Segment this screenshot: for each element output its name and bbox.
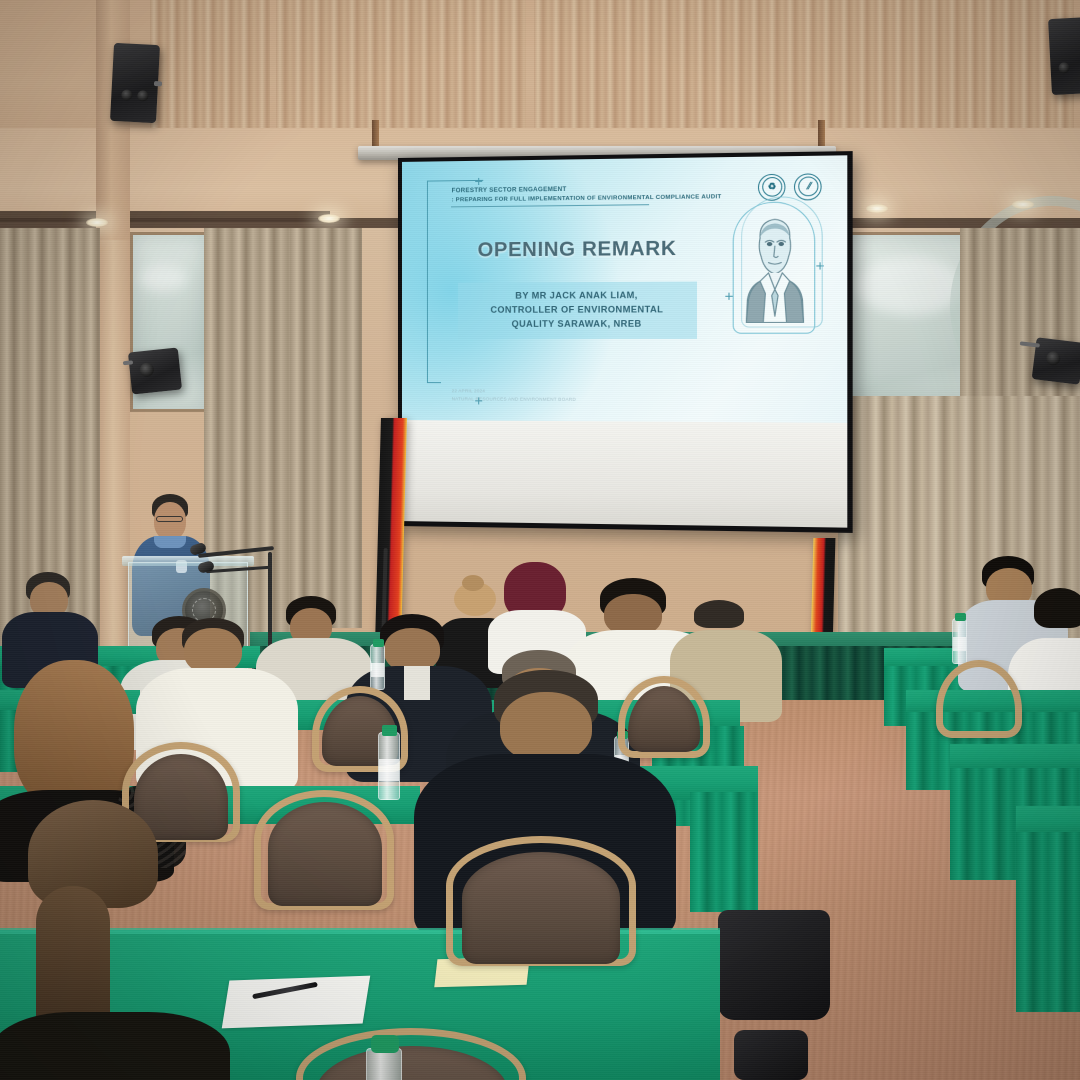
presenter-glasses-icon <box>156 516 183 522</box>
water-bottle <box>378 732 400 800</box>
chair-back-cushion <box>268 802 382 906</box>
attendee-shirt-collar <box>404 666 430 700</box>
wall-speaker-left-lower <box>128 348 182 395</box>
slide-subtitle-box: BY MR JACK ANAK LIAM, CONTROLLER OF ENVI… <box>458 282 697 339</box>
speaker-portrait-illustration <box>733 201 816 333</box>
sarawak-logo-glyph: ⫽ <box>798 177 818 197</box>
ceiling-downlight <box>1012 200 1034 209</box>
projection-screen: FORESTRY SECTOR ENGAGEMENT : PREPARING F… <box>398 151 853 533</box>
table-skirt <box>1016 832 1080 1012</box>
slide-footnote-line2: NATURAL RESOURCES AND ENVIRONMENT BOARD <box>452 395 695 404</box>
attendee-hair <box>1034 588 1080 628</box>
slide-subtitle-line2: CONTROLLER OF ENVIRONMENTAL <box>464 303 690 317</box>
ceiling-downlight <box>866 204 888 213</box>
table-skirt <box>690 792 758 912</box>
slide-corner-bracket <box>427 180 483 383</box>
hair-bun-knot <box>462 575 484 591</box>
wall-speaker-left <box>110 43 160 123</box>
soffit-trim <box>0 211 330 222</box>
attendee-foreground-ponytail <box>0 800 250 1080</box>
window-curtain <box>290 228 362 628</box>
wall-pillar <box>96 240 130 660</box>
attendee-torso <box>0 1012 230 1080</box>
water-bottle-foreground <box>366 1048 402 1080</box>
fluted-wall-panel <box>534 0 1074 130</box>
presentation-slide: FORESTRY SECTOR ENGAGEMENT : PREPARING F… <box>402 155 847 423</box>
portrait-arch-frame <box>733 201 816 333</box>
black-backpack <box>718 910 830 1020</box>
attendee-head <box>500 692 592 762</box>
screen-blank-area <box>402 420 847 527</box>
conference-hall-photo: FORESTRY SECTOR ENGAGEMENT : PREPARING F… <box>0 0 1080 1080</box>
ceiling-downlight <box>86 218 108 227</box>
sarawak-logo-icon: ⫽ <box>794 173 822 200</box>
attendee-hair-long <box>14 660 134 810</box>
fluted-wall-panel <box>276 0 526 130</box>
presenter-collar <box>154 536 186 548</box>
slide-title: OPENING REMARK <box>458 237 697 262</box>
wall-pillar <box>96 0 130 250</box>
slide-kicker-line2: : PREPARING FOR FULL IMPLEMENTATION OF E… <box>452 193 754 205</box>
slide-subtitle-line3: QUALITY SARAWAK, NREB <box>464 317 690 331</box>
chair-back-cushion <box>462 852 620 964</box>
slide-subtitle-line1: BY MR JACK ANAK LIAM, <box>464 289 690 304</box>
portrait-line-art-icon <box>734 202 817 334</box>
water-bottle <box>952 618 967 664</box>
ceiling-downlight <box>318 214 340 223</box>
attendee-hair <box>694 600 744 628</box>
slide-footnote: 22 APRIL 2024 NATURAL RESOURCES AND ENVI… <box>452 387 695 404</box>
black-bag-small <box>734 1030 808 1080</box>
slide-tick-mark <box>475 177 482 184</box>
fluted-wall-panel <box>150 0 270 130</box>
wall-speaker-right <box>1048 17 1080 95</box>
nreb-logo-glyph: ♻ <box>762 177 782 197</box>
wall-speaker-right-lower <box>1032 337 1080 385</box>
slide-kicker-text: FORESTRY SECTOR ENGAGEMENT : PREPARING F… <box>452 184 754 205</box>
water-bottle <box>370 644 385 690</box>
slide-kicker-line1: FORESTRY SECTOR ENGAGEMENT <box>452 186 567 194</box>
